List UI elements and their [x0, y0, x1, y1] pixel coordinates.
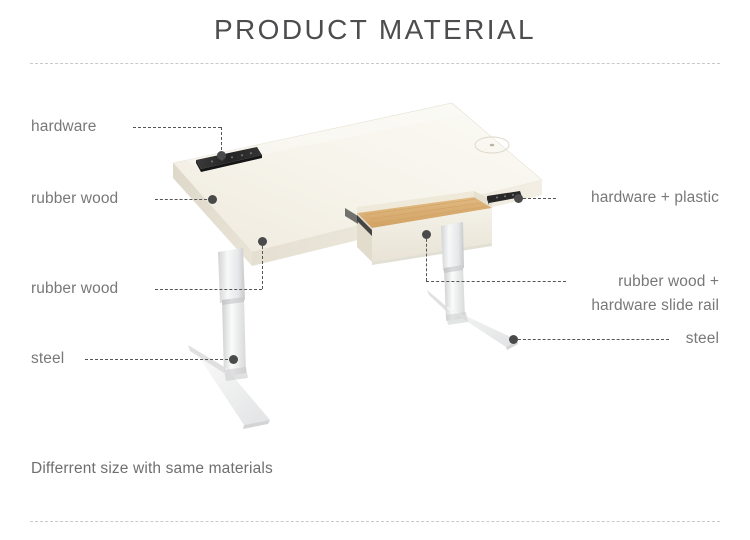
- divider-top: [30, 63, 720, 64]
- leader-rubber-wood-edge-vertical: [262, 241, 263, 289]
- callout-dot-hardware-plastic: [514, 194, 523, 203]
- leader-hardware-plastic: [518, 198, 556, 199]
- control-panel: [196, 147, 262, 172]
- callout-label-hardware: hardware: [31, 117, 96, 137]
- callout-label-slide-rail-line1: rubber wood +: [591, 270, 719, 294]
- divider-bottom: [30, 521, 720, 522]
- callout-label-slide-rail-line2: hardware slide rail: [591, 294, 719, 318]
- callout-label-steel-right: steel: [686, 329, 719, 349]
- callout-dot-rubber-wood-top: [208, 195, 217, 204]
- leader-slide-rail-vertical: [426, 234, 427, 281]
- leader-rubber-wood-edge-horizontal: [155, 289, 262, 290]
- callout-dot-rubber-wood-edge: [258, 237, 267, 246]
- callout-label-rubber-wood-edge: rubber wood: [31, 279, 118, 299]
- left-leg: [188, 248, 270, 429]
- product-material-infographic: PRODUCT MATERIAL: [0, 0, 750, 540]
- callout-label-steel-left: steel: [31, 349, 64, 369]
- desktop: [173, 103, 542, 266]
- callout-dot-hardware: [217, 151, 226, 160]
- callout-label-slide-rail: rubber wood + hardware slide rail: [591, 270, 719, 318]
- callout-label-hardware-plastic: hardware + plastic: [591, 188, 719, 208]
- leader-rubber-wood-top: [155, 199, 212, 200]
- leader-slide-rail-horizontal: [426, 281, 566, 282]
- drawer: [345, 191, 492, 265]
- page-title: PRODUCT MATERIAL: [0, 13, 750, 47]
- right-leg: [427, 222, 518, 350]
- callout-dot-steel-left: [229, 355, 238, 364]
- callout-dot-steel-right: [509, 335, 518, 344]
- callout-dot-slide-rail: [422, 230, 431, 239]
- footer-note: Differrent size with same materials: [31, 460, 273, 478]
- leader-steel-right: [513, 339, 669, 340]
- callout-label-rubber-wood-top: rubber wood: [31, 189, 118, 209]
- leader-steel-left: [85, 359, 233, 360]
- wireless-charger-icon: [475, 137, 509, 153]
- leader-hardware-horizontal: [133, 127, 221, 128]
